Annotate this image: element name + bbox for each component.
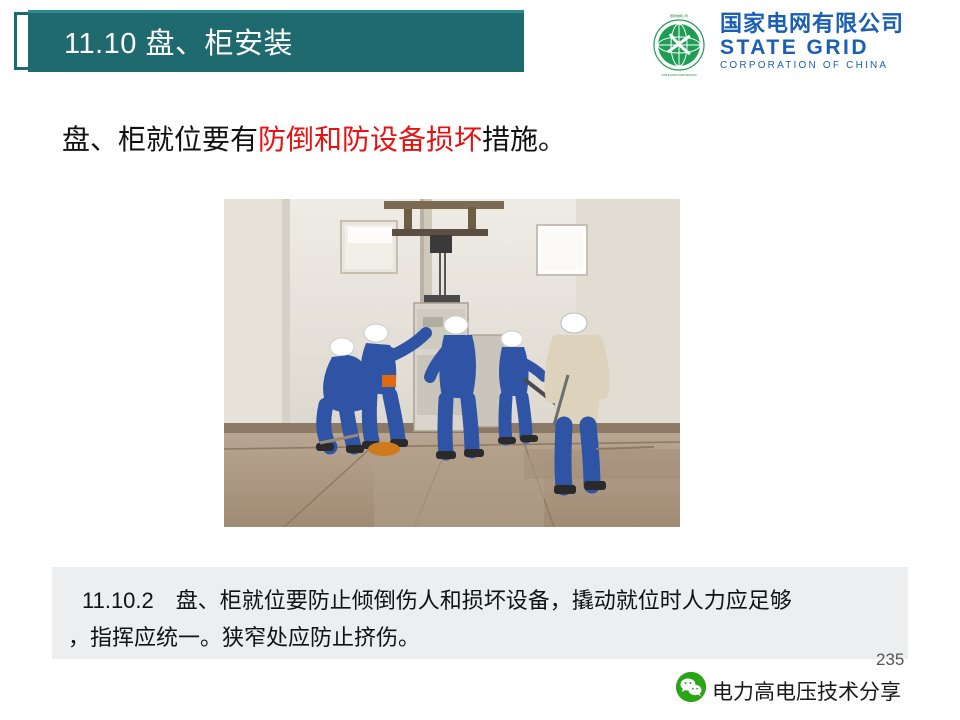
headline-prefix: 盘、柜就位要有	[62, 124, 258, 155]
caption-box: 11.10.2 盘、柜就位要防止倾倒伤人和损坏设备，撬动就位时人力应足够 ，指挥…	[52, 567, 908, 659]
caption-line-2: ，指挥应统一。狭窄处应防止挤伤。	[68, 620, 420, 652]
wechat-icon	[676, 672, 706, 702]
slide-title-group: 11.10 盘、柜安装	[14, 10, 524, 72]
footer-label: 电力高电压技术分享	[712, 676, 901, 706]
svg-text:STATE GRID CORPORATION: STATE GRID CORPORATION	[661, 73, 696, 77]
slide-photo	[224, 199, 680, 527]
page-number: 235	[876, 650, 904, 670]
svg-text:国家电网公司: 国家电网公司	[670, 13, 688, 18]
page-title: 11.10 盘、柜安装	[64, 20, 293, 62]
logo-company-en-sub: CORPORATION OF CHINA	[720, 59, 946, 73]
caption-line-1: 11.10.2 盘、柜就位要防止倾倒伤人和损坏设备，撬动就位时人力应足够	[82, 583, 792, 615]
headline: 盘、柜就位要有防倒和防设备损坏措施。	[62, 118, 566, 158]
globe-icon: 国家电网公司 STATE GRID CORPORATION	[646, 12, 712, 78]
headline-suffix: 措施。	[482, 124, 566, 155]
logo-text-block: 国家电网有限公司 STATE GRID CORPORATION OF CHINA	[720, 12, 946, 73]
logo-company-en: STATE GRID	[720, 36, 946, 59]
state-grid-logo: 国家电网公司 STATE GRID CORPORATION 国家电网有限公司 S…	[646, 10, 946, 80]
headline-highlight: 防倒和防设备损坏	[258, 124, 482, 155]
logo-company-cn: 国家电网有限公司	[720, 12, 946, 36]
title-bar: 11.10 盘、柜安装	[28, 10, 524, 72]
footer-watermark: 电力高电压技术分享	[676, 668, 944, 708]
slide-root: 11.10 盘、柜安装 国家电网公司 STATE GRID CORPORATIO…	[0, 0, 960, 720]
